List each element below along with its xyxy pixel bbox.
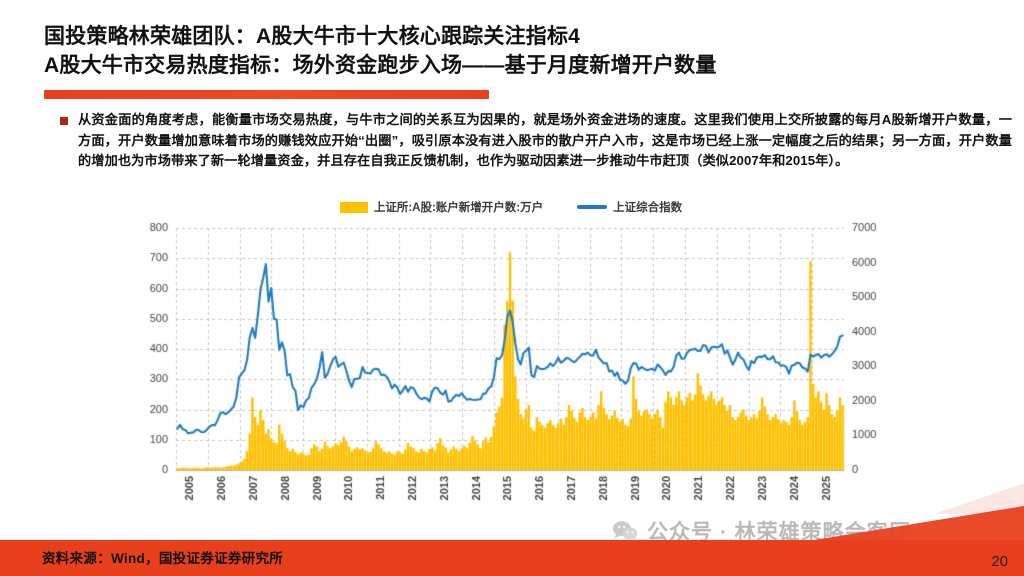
slide-root: 国投策略林荣雄团队：A股大牛市十大核心跟踪关注指标4 A股大牛市交易热度指标：场… <box>0 0 1024 576</box>
title-line-1: 国投策略林荣雄团队：A股大牛市十大核心跟踪关注指标4 <box>44 22 1019 51</box>
body-bullet-row: 从资金面的角度考虑，能衡量市场交易热度，与牛市之间的关系互为因果的，就是场外资金… <box>60 110 1012 172</box>
source-note: 资料来源：Wind，国投证券证券研究所 <box>42 547 283 567</box>
square-bullet-icon <box>60 117 68 125</box>
title-line-2: A股大牛市交易热度指标：场外资金跑步入场——基于月度新增开户数量 <box>44 51 1019 80</box>
title-underline-rule <box>44 90 489 99</box>
legend-line-swatch-icon <box>577 205 607 209</box>
legend-item-bars[interactable]: 上证所:A股:账户新增开户数:万户 <box>340 199 543 215</box>
legend-item-line[interactable]: 上证综合指数 <box>577 199 682 215</box>
chart-container: 上证所:A股:账户新增开户数:万户 上证综合指数 <box>118 196 904 526</box>
legend-bar-swatch-icon <box>340 202 368 213</box>
legend-label-bars: 上证所:A股:账户新增开户数:万户 <box>374 199 543 215</box>
chart-canvas <box>118 218 904 518</box>
page-title: 国投策略林荣雄团队：A股大牛市十大核心跟踪关注指标4 A股大牛市交易热度指标：场… <box>44 22 1019 80</box>
chart-plot-area <box>118 218 904 518</box>
chart-legend: 上证所:A股:账户新增开户数:万户 上证综合指数 <box>118 196 904 218</box>
body-paragraph: 从资金面的角度考虑，能衡量市场交易热度，与牛市之间的关系互为因果的，就是场外资金… <box>78 110 1012 172</box>
legend-label-line: 上证综合指数 <box>613 199 682 215</box>
page-number: 20 <box>991 553 1008 570</box>
